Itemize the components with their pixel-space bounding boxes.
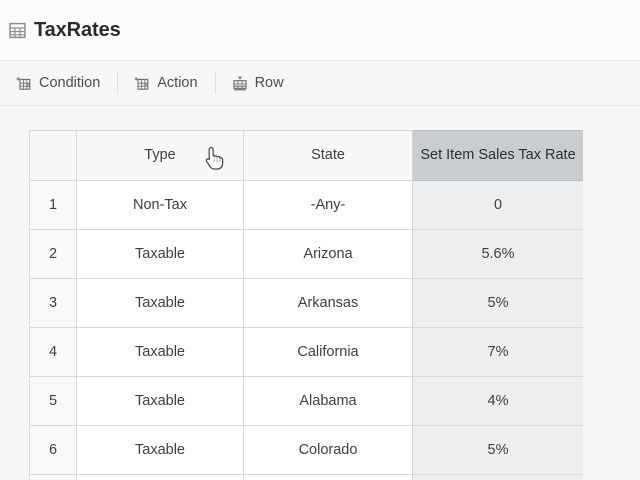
- tax-rate-cell[interactable]: 5%: [413, 279, 584, 328]
- state-cell[interactable]: Arizona: [244, 230, 413, 279]
- add-action-icon: [134, 75, 150, 91]
- row-number-cell[interactable]: [30, 475, 77, 480]
- toolbar-item-row-label: Row: [255, 76, 284, 91]
- grid-toolbar: Condition Action: [0, 61, 640, 106]
- state-cell[interactable]: [244, 475, 413, 480]
- type-cell[interactable]: Taxable: [77, 279, 244, 328]
- state-cell[interactable]: Colorado: [244, 426, 413, 475]
- row-number-cell[interactable]: 1: [30, 181, 77, 230]
- tax-rate-cell[interactable]: 5.6%: [413, 230, 584, 279]
- state-cell[interactable]: Alabama: [244, 377, 413, 426]
- tax-rates-grid[interactable]: Type State Set Item Sales Tax Rate 1 Non…: [29, 130, 583, 480]
- type-cell[interactable]: Taxable: [77, 426, 244, 475]
- table-row[interactable]: 6 Taxable Colorado 5%: [30, 426, 584, 475]
- table-grid-icon: [9, 22, 26, 39]
- column-header-type[interactable]: Type: [77, 131, 244, 181]
- table-row[interactable]: 4 Taxable California 7%: [30, 328, 584, 377]
- row-number-cell[interactable]: 5: [30, 377, 77, 426]
- toolbar-item-row[interactable]: Row: [216, 61, 302, 105]
- table-header-row: Type State Set Item Sales Tax Rate: [30, 131, 584, 181]
- column-header-state-label: State: [244, 148, 412, 163]
- taxrates-window: TaxRates Condition: [0, 0, 640, 480]
- column-header-row-number[interactable]: [30, 131, 77, 181]
- column-header-set-item-sales-tax-rate[interactable]: Set Item Sales Tax Rate: [413, 131, 584, 181]
- toolbar-item-condition-label: Condition: [39, 76, 100, 91]
- column-header-state[interactable]: State: [244, 131, 413, 181]
- table-row[interactable]: [30, 475, 584, 480]
- toolbar-item-action[interactable]: Action: [118, 61, 215, 105]
- row-number-cell[interactable]: 4: [30, 328, 77, 377]
- type-cell[interactable]: [77, 475, 244, 480]
- tax-rate-cell[interactable]: 4%: [413, 377, 584, 426]
- table-row[interactable]: 1 Non-Tax -Any- 0: [30, 181, 584, 230]
- tax-rate-cell[interactable]: [413, 475, 584, 480]
- row-number-cell[interactable]: 2: [30, 230, 77, 279]
- row-number-cell[interactable]: 6: [30, 426, 77, 475]
- tax-rate-cell[interactable]: 7%: [413, 328, 584, 377]
- page-title: TaxRates: [34, 20, 121, 41]
- toolbar-item-action-label: Action: [157, 76, 197, 91]
- window-title-bar: TaxRates: [0, 0, 640, 61]
- state-cell[interactable]: -Any-: [244, 181, 413, 230]
- table-row[interactable]: 3 Taxable Arkansas 5%: [30, 279, 584, 328]
- state-cell[interactable]: California: [244, 328, 413, 377]
- type-cell[interactable]: Taxable: [77, 230, 244, 279]
- type-cell[interactable]: Taxable: [77, 328, 244, 377]
- table-row[interactable]: 2 Taxable Arizona 5.6%: [30, 230, 584, 279]
- tax-rate-cell[interactable]: 0: [413, 181, 584, 230]
- toolbar-item-condition[interactable]: Condition: [0, 61, 118, 105]
- row-number-cell[interactable]: 3: [30, 279, 77, 328]
- table-row[interactable]: 5 Taxable Alabama 4%: [30, 377, 584, 426]
- type-cell[interactable]: Non-Tax: [77, 181, 244, 230]
- column-header-set-item-sales-tax-rate-label: Set Item Sales Tax Rate: [413, 148, 583, 163]
- add-condition-icon: [16, 75, 32, 91]
- add-row-icon: [232, 75, 248, 91]
- state-cell[interactable]: Arkansas: [244, 279, 413, 328]
- tax-rate-cell[interactable]: 5%: [413, 426, 584, 475]
- type-cell[interactable]: Taxable: [77, 377, 244, 426]
- column-header-type-label: Type: [77, 148, 243, 163]
